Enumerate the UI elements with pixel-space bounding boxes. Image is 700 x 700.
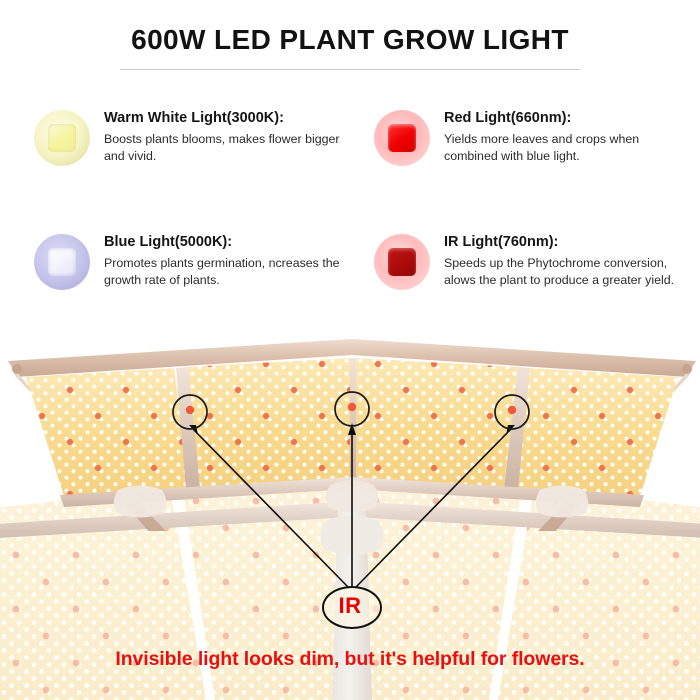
led-chip <box>388 124 416 152</box>
feature-title: Blue Light(5000K): <box>104 232 354 252</box>
red-led-icon <box>374 110 430 166</box>
feature-description: Promotes plants germination, ncreases th… <box>104 255 354 289</box>
feature-title: IR Light(760nm): <box>444 232 694 252</box>
feature-description: Yields more leaves and crops when combin… <box>444 131 694 165</box>
ir-diode-center <box>348 403 356 411</box>
corner-cap-left <box>12 364 22 374</box>
upper-sep-bar-2 <box>350 358 356 482</box>
blue-led-icon <box>34 234 90 290</box>
infographic-page: 600W LED PLANT GROW LIGHT Warm White Lig… <box>0 0 700 700</box>
grow-light-illustration <box>0 325 700 700</box>
feature-text: Blue Light(5000K): Promotes plants germi… <box>104 232 354 289</box>
header: 600W LED PLANT GROW LIGHT <box>0 0 700 100</box>
feature-warm-white: Warm White Light(3000K): Boosts plants b… <box>34 108 354 208</box>
title-divider <box>120 69 580 70</box>
feature-text: Red Light(660nm): Yields more leaves and… <box>444 108 694 165</box>
feature-text: IR Light(760nm): Speeds up the Phytochro… <box>444 232 694 289</box>
feature-description: Boosts plants blooms, makes flower bigge… <box>104 131 354 165</box>
ir-diode-right <box>508 406 516 414</box>
ir-callout: IR <box>322 586 382 629</box>
feature-ir: IR Light(760nm): Speeds up the Phytochro… <box>374 232 694 332</box>
bottom-caption: Invisible light looks dim, but it's help… <box>0 648 700 671</box>
upper-board-3-ir <box>354 358 518 487</box>
ir-led-icon <box>374 234 430 290</box>
ir-callout-label: IR <box>322 586 378 625</box>
feature-list: Warm White Light(3000K): Boosts plants b… <box>0 100 700 325</box>
ir-diode-left <box>186 406 194 414</box>
warm-white-led-icon <box>34 110 90 166</box>
feature-text: Warm White Light(3000K): Boosts plants b… <box>104 108 354 165</box>
upper-board-1-ir <box>26 368 190 496</box>
feature-title: Warm White Light(3000K): <box>104 108 354 128</box>
page-title: 600W LED PLANT GROW LIGHT <box>0 24 700 56</box>
led-chip <box>388 248 416 276</box>
feature-red: Red Light(660nm): Yields more leaves and… <box>374 108 694 208</box>
corner-cap-right <box>682 364 692 374</box>
product-photo <box>0 325 700 700</box>
led-chip <box>48 248 76 276</box>
upper-board-2-ir <box>186 358 350 487</box>
feature-description: Speeds up the Phytochrome conversion, al… <box>444 255 694 289</box>
gusset-left <box>114 486 167 518</box>
led-chip <box>48 124 76 152</box>
gusset-right <box>536 486 589 518</box>
upper-board-4-ir <box>514 368 678 496</box>
feature-title: Red Light(660nm): <box>444 108 694 128</box>
feature-blue: Blue Light(5000K): Promotes plants germi… <box>34 232 354 332</box>
